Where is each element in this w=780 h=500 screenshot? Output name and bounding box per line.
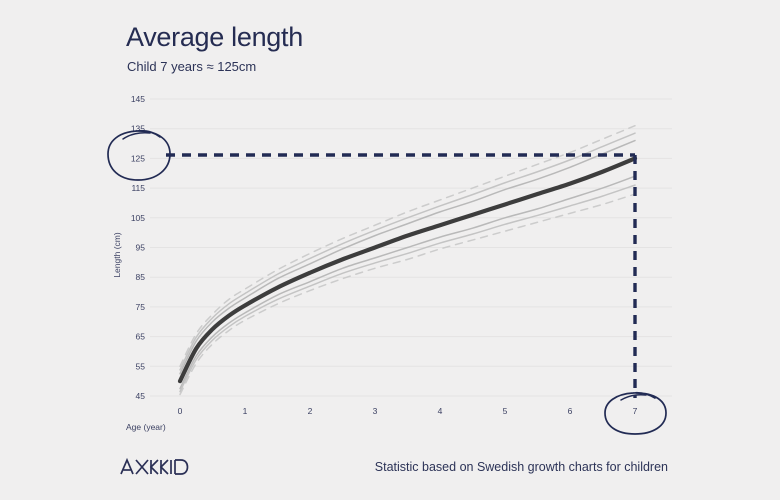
x-tick-label: 4 [438, 406, 443, 416]
y-tick-label: 55 [136, 361, 146, 371]
chart-line [180, 185, 635, 391]
y-tick-label: 105 [131, 213, 145, 223]
x-tick-label: 3 [373, 406, 378, 416]
y-tick-label: 65 [136, 332, 146, 342]
y-tick-label: 115 [131, 183, 145, 193]
x-tick-label: 2 [308, 406, 313, 416]
chart-series-layer [180, 126, 635, 395]
x-axis-ticks: 01234567 [178, 406, 638, 416]
chart-line [180, 141, 635, 374]
growth-chart: 455565758595105115125135145 01234567 Len… [0, 0, 780, 500]
infographic-canvas: Average length Child 7 years ≈ 125cm 455… [0, 0, 780, 500]
chart-line [180, 158, 635, 381]
y-tick-label: 125 [131, 153, 145, 163]
y-axis-ticks: 455565758595105115125135145 [131, 94, 145, 401]
x-tick-label: 0 [178, 406, 183, 416]
axkid-logo [119, 456, 189, 478]
x-tick-label: 1 [243, 406, 248, 416]
chart-line [180, 176, 635, 388]
y-tick-label: 45 [136, 391, 146, 401]
x-axis-title: Age (year) [126, 422, 166, 432]
y-tick-label: 95 [136, 243, 146, 253]
source-note: Statistic based on Swedish growth charts… [375, 460, 668, 474]
y-tick-label: 75 [136, 302, 146, 312]
y-axis-title: Length (cm) [112, 232, 122, 278]
y-tick-label: 145 [131, 94, 145, 104]
x-tick-label: 5 [503, 406, 508, 416]
y-tick-label: 85 [136, 272, 146, 282]
x-tick-label: 7 [633, 406, 638, 416]
annotation-guide-lines [166, 155, 635, 398]
x-tick-label: 6 [568, 406, 573, 416]
